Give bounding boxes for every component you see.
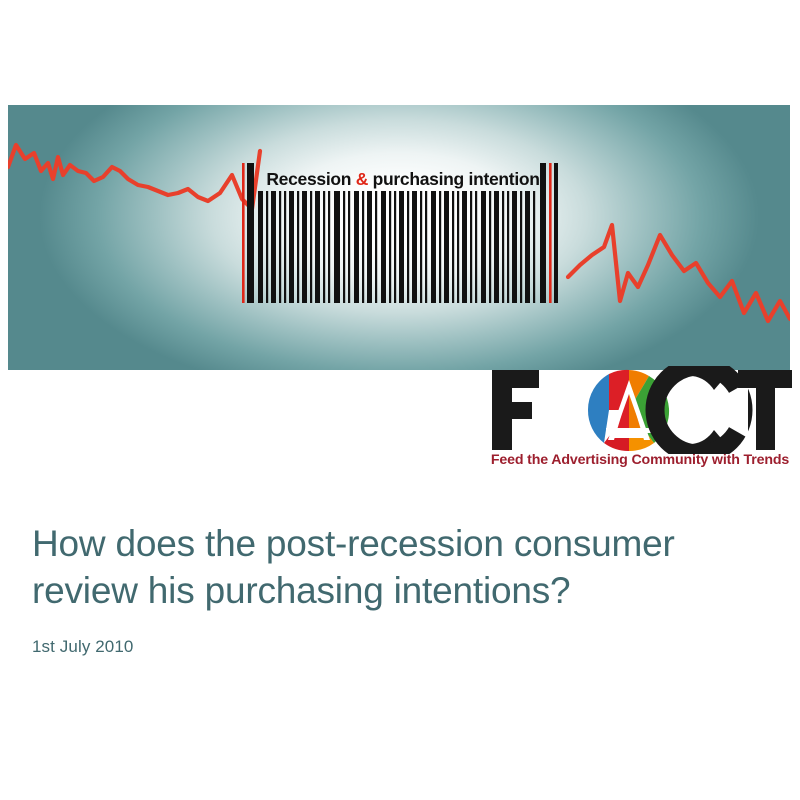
page-title: How does the post-recession consumer rev… — [32, 520, 762, 615]
fact-logo-mark — [486, 366, 794, 454]
title-block: How does the post-recession consumer rev… — [32, 520, 762, 657]
barcode-label: Recession & purchasing intention — [258, 166, 548, 192]
trend-line-right — [568, 225, 790, 321]
barcode-guard-bar-left — [247, 163, 254, 303]
barcode-label-prefix: Recession — [266, 169, 355, 189]
barcode-guard-right — [549, 163, 552, 303]
barcode-label-ampersand: & — [356, 169, 368, 189]
trend-line-left — [8, 145, 260, 209]
barcode-guard-left — [242, 163, 245, 303]
logo-letter-c — [649, 366, 748, 454]
title-slide: Recession & purchasing intention — [0, 0, 800, 800]
logo-letter-f — [492, 370, 539, 450]
barcode-label-suffix: purchasing intention — [368, 169, 540, 189]
slide-date: 1st July 2010 — [32, 637, 762, 657]
barcode-guard-bar-far-right — [554, 163, 558, 303]
fact-wordmark-svg — [486, 366, 794, 454]
logo-tagline: Feed the Advertising Community with Tren… — [486, 452, 794, 468]
fact-logo: Feed the Advertising Community with Tren… — [486, 366, 794, 478]
